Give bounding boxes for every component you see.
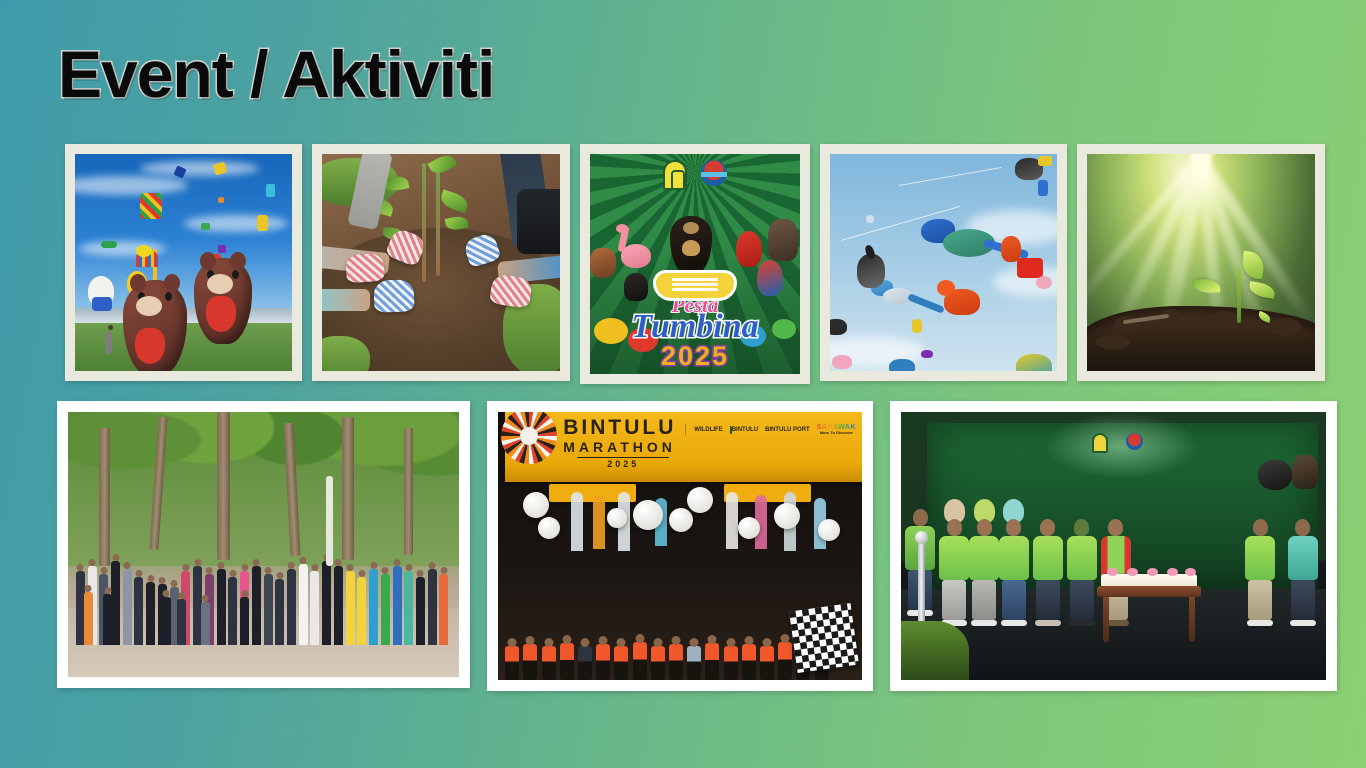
photo-frame-kite-festival-chipmunk[interactable] bbox=[65, 144, 302, 381]
marathon-sponsor-logos: WILDLIFE BINTULU BINTULU PORT SARAWAK Mo… bbox=[685, 424, 856, 435]
marathon-line-3: 2025 bbox=[577, 457, 669, 469]
photo-seedling-in-soil bbox=[1087, 154, 1315, 371]
checkered-flag-icon bbox=[789, 603, 859, 673]
photo-frame-dragon-kites[interactable] bbox=[820, 144, 1067, 381]
photo-frame-bintulu-marathon[interactable]: BINTULU MARATHON 2025 WILDLIFE BINTULU B… bbox=[487, 401, 873, 691]
poster-line-3: 2025 bbox=[590, 343, 800, 370]
poster-title-block: Pesta Tumbina 2025 bbox=[590, 268, 800, 370]
photo-frame-park-group[interactable] bbox=[57, 401, 470, 688]
photo-kite-festival-chipmunk bbox=[75, 154, 292, 371]
photo-frame-tree-planting-gloves[interactable] bbox=[312, 144, 570, 381]
photo-frame-cake-cutting[interactable] bbox=[890, 401, 1337, 691]
photo-park-group-photo bbox=[68, 412, 459, 677]
photo-pesta-tumbina-poster: Pesta Tumbina 2025 bbox=[590, 154, 800, 374]
photo-frame-seedling[interactable] bbox=[1077, 144, 1325, 381]
marathon-banner-text: BINTULU MARATHON 2025 bbox=[563, 417, 676, 469]
poster-line-2: Tumbina bbox=[590, 312, 800, 343]
ceremonial-cake-table bbox=[1097, 572, 1201, 642]
photo-frame-pesta-tumbina-poster[interactable]: Pesta Tumbina 2025 bbox=[580, 144, 810, 384]
gallery-row-top: Pesta Tumbina 2025 bbox=[65, 144, 1325, 384]
poster-logo-row bbox=[590, 160, 800, 190]
photo-bintulu-marathon-2025: BINTULU MARATHON 2025 WILDLIFE BINTULU B… bbox=[498, 412, 862, 680]
bintulu-development-authority-logo-icon bbox=[663, 160, 687, 190]
photo-dragon-kites-blue-sky bbox=[830, 154, 1057, 371]
page-title: Event / Aktiviti bbox=[58, 36, 494, 112]
photo-tree-planting-gloves bbox=[322, 154, 560, 371]
sponsor-wildlife: WILDLIFE bbox=[694, 427, 722, 433]
marathon-sun-logo-icon bbox=[501, 412, 557, 464]
sponsor-bintulu: BINTULU bbox=[730, 427, 758, 433]
sarawak-forestry-logo-icon bbox=[701, 160, 727, 186]
marathon-line-1: BINTULU bbox=[563, 417, 676, 438]
backdrop-bda-logo-icon bbox=[1092, 433, 1108, 453]
marathon-start-arch: BINTULU MARATHON 2025 WILDLIFE BINTULU B… bbox=[505, 412, 862, 482]
sponsor-sarawak: SARAWAK More To Discover bbox=[817, 424, 856, 435]
gallery-row-bottom: BINTULU MARATHON 2025 WILDLIFE BINTULU B… bbox=[57, 401, 1337, 691]
marathon-line-2: MARATHON bbox=[563, 438, 676, 456]
sponsor-bintulu-port: BINTULU PORT bbox=[765, 427, 810, 433]
poster-badge-icon bbox=[653, 270, 737, 301]
photo-cake-cutting-ceremony bbox=[901, 412, 1326, 680]
